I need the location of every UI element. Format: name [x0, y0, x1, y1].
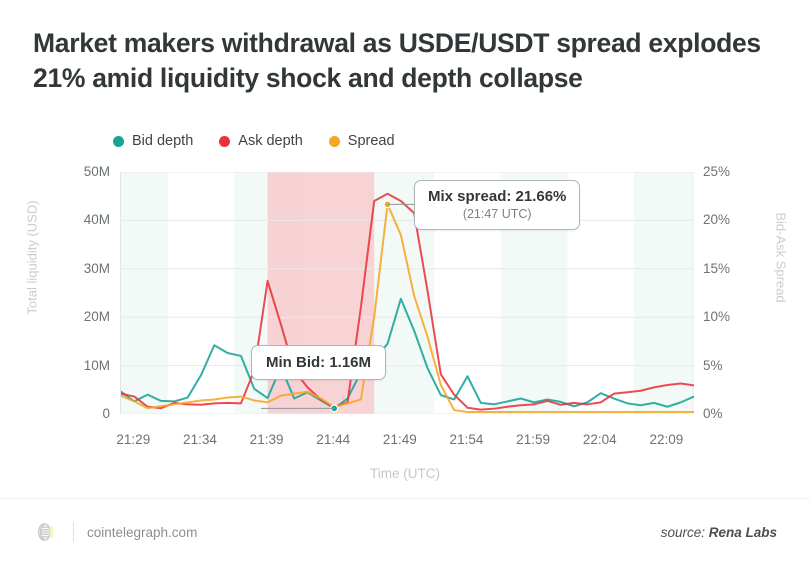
x-tick: 22:09	[649, 432, 683, 447]
y-axis-left: 010M20M30M40M50M	[48, 172, 110, 414]
y-axis-left-title: Total liquidity (USD)	[25, 163, 40, 353]
y-tick-left: 20M	[52, 310, 110, 324]
annotation-min-bid-value: Min Bid: 1.16M	[266, 354, 371, 371]
y-axis-right-title: Bid-Ask Spread	[774, 163, 789, 353]
plot-area	[120, 172, 693, 414]
y-tick-right: 10%	[703, 310, 761, 324]
legend-dot-icon	[329, 136, 340, 147]
y-tick-right: 0%	[703, 407, 761, 421]
x-axis-title: Time (UTC)	[0, 466, 810, 481]
x-axis-ticks: 21:2921:3421:3921:4421:4921:5421:5922:04…	[120, 432, 693, 452]
y-tick-right: 20%	[703, 213, 761, 227]
chart-svg	[121, 172, 694, 414]
footer-source-prefix: source:	[661, 525, 709, 540]
page-title: Market makers withdrawal as USDE/USDT sp…	[33, 26, 773, 96]
annotation-max-spread[interactable]: Mix spread: 21.66% (21:47 UTC)	[414, 180, 580, 230]
legend-item-ask-depth[interactable]: Ask depth	[219, 133, 303, 149]
y-tick-left: 40M	[52, 213, 110, 227]
annotation-max-spread-time: (21:47 UTC)	[428, 207, 566, 221]
y-tick-right: 25%	[703, 165, 761, 179]
legend-dot-icon	[219, 136, 230, 147]
y-tick-left: 30M	[52, 262, 110, 276]
legend-label-bid-depth: Bid depth	[132, 133, 193, 149]
chart-page: Market makers withdrawal as USDE/USDT sp…	[0, 0, 810, 578]
y-tick-right: 5%	[703, 359, 761, 373]
cointelegraph-logo-icon	[33, 519, 59, 545]
legend-item-bid-depth[interactable]: Bid depth	[113, 133, 193, 149]
y-tick-left: 50M	[52, 165, 110, 179]
legend-label-spread: Spread	[348, 133, 395, 149]
x-tick: 21:29	[116, 432, 150, 447]
footer-site-label[interactable]: cointelegraph.com	[87, 525, 197, 540]
legend-item-spread[interactable]: Spread	[329, 133, 395, 149]
x-tick: 21:54	[450, 432, 484, 447]
x-tick: 21:59	[516, 432, 550, 447]
footer-divider	[0, 498, 810, 499]
y-axis-right: 0%5%10%15%20%25%	[703, 172, 765, 414]
legend-dot-icon	[113, 136, 124, 147]
footer-source: source: Rena Labs	[661, 525, 777, 540]
legend-label-ask-depth: Ask depth	[238, 133, 303, 149]
x-tick: 22:04	[583, 432, 617, 447]
x-tick: 21:34	[183, 432, 217, 447]
footer: cointelegraph.com source: Rena Labs	[33, 516, 777, 548]
annotation-min-bid[interactable]: Min Bid: 1.16M	[251, 345, 386, 380]
x-tick: 21:49	[383, 432, 417, 447]
annotation-max-spread-value: Mix spread: 21.66%	[428, 188, 566, 205]
x-tick: 21:39	[250, 432, 284, 447]
y-tick-left: 0	[52, 407, 110, 421]
footer-separator	[73, 522, 74, 542]
x-tick: 21:44	[316, 432, 350, 447]
y-tick-left: 10M	[52, 359, 110, 373]
chart-legend: Bid depth Ask depth Spread	[113, 133, 395, 149]
footer-source-name: Rena Labs	[709, 525, 777, 540]
y-tick-right: 15%	[703, 262, 761, 276]
